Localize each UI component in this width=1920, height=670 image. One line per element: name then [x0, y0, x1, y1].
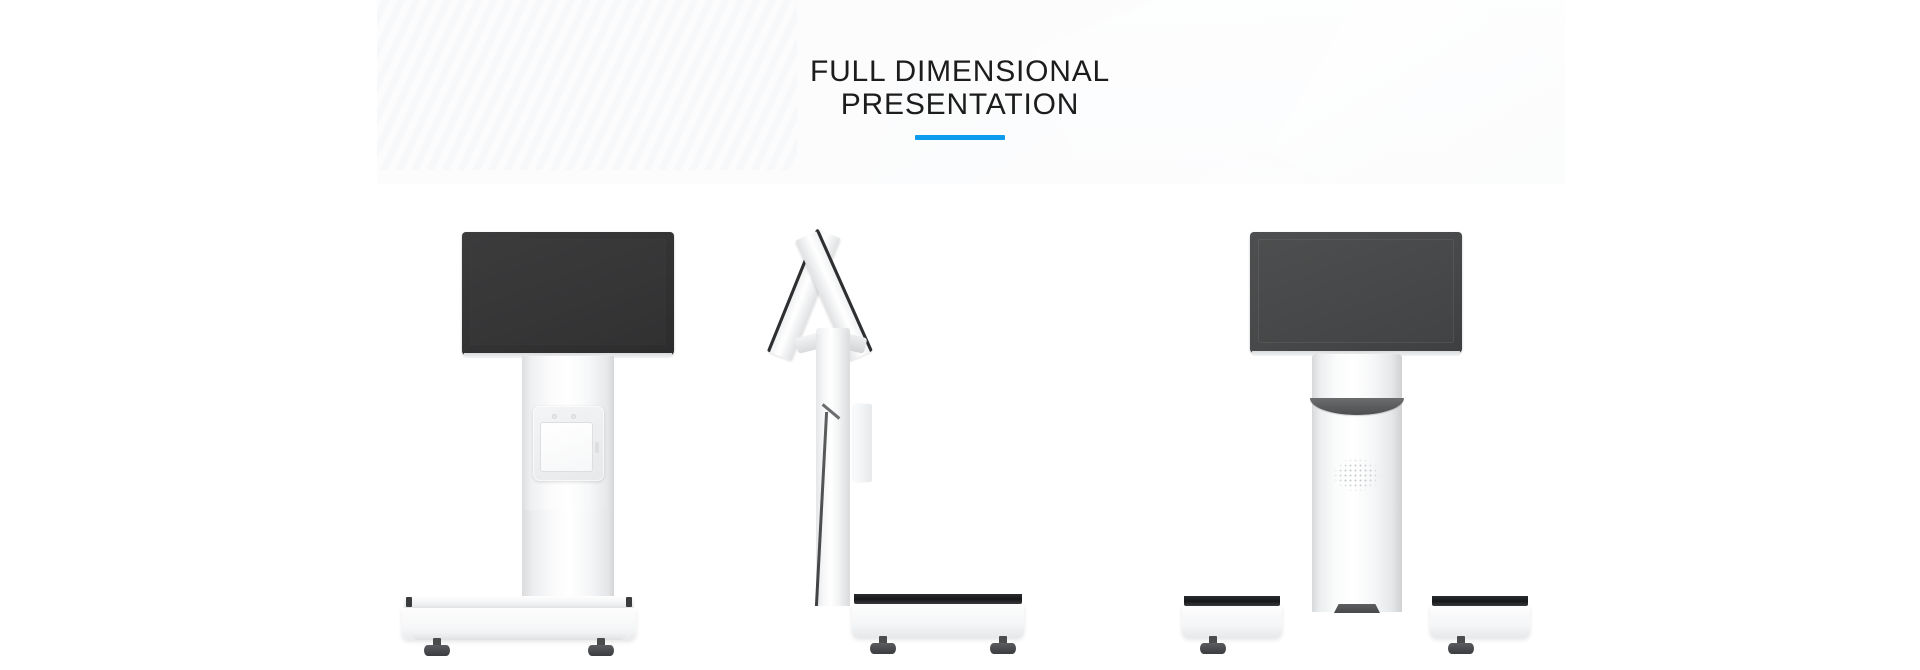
front-weighing-platform: [404, 596, 634, 608]
platform-end-cap-right: [626, 597, 632, 607]
rear-weighing-platform-left: [1184, 594, 1280, 606]
speaker-grille-icon: [1333, 458, 1381, 492]
foot-pad: [870, 643, 896, 654]
product-stage: [0, 184, 1920, 670]
rear-scale-body-right: [1430, 606, 1530, 638]
side-weighing-platform: [854, 592, 1022, 604]
rear-screen-inner-panel: [1258, 239, 1454, 343]
rear-display-back-panel: [1250, 232, 1462, 353]
foot-pad: [1448, 643, 1474, 654]
ir-sensor-icon: [571, 414, 576, 419]
rear-scale-body-left: [1182, 606, 1282, 638]
adjustable-foot-right: [1448, 636, 1474, 654]
module-side-tab: [595, 442, 599, 453]
foot-pad: [1200, 643, 1226, 654]
side-service-panel: [854, 404, 872, 482]
product-front-view[interactable]: [372, 184, 752, 670]
adjustable-foot-left: [870, 636, 896, 654]
camera-lens-icon: [552, 414, 557, 419]
page-title-line-1: FULL DIMENSIONAL: [0, 55, 1920, 88]
rear-weighing-platform-right: [1432, 594, 1528, 606]
face-recognition-window: [540, 422, 593, 472]
side-scale-body: [852, 604, 1024, 638]
page-title-block: FULL DIMENSIONAL PRESENTATION: [0, 55, 1920, 140]
page-title-line-2: PRESENTATION: [0, 88, 1920, 121]
face-recognition-module: [533, 406, 604, 481]
title-underline-rule: [915, 135, 1005, 140]
product-rear-view[interactable]: [1160, 184, 1540, 670]
front-screen-panel: [470, 239, 666, 345]
foot-pad: [588, 645, 614, 656]
adjustable-foot-right: [990, 636, 1016, 654]
front-touchscreen-display: [462, 232, 674, 355]
adjustable-foot-right: [588, 638, 614, 656]
front-pedestal-column-lower: [522, 510, 614, 606]
foot-pad: [990, 643, 1016, 654]
rear-column-base-notch: [1334, 604, 1380, 613]
platform-end-cap-left: [406, 597, 412, 607]
adjustable-foot-left: [424, 638, 450, 656]
adjustable-foot-left: [1200, 636, 1226, 654]
product-side-view[interactable]: [758, 184, 1138, 670]
foot-pad: [424, 645, 450, 656]
